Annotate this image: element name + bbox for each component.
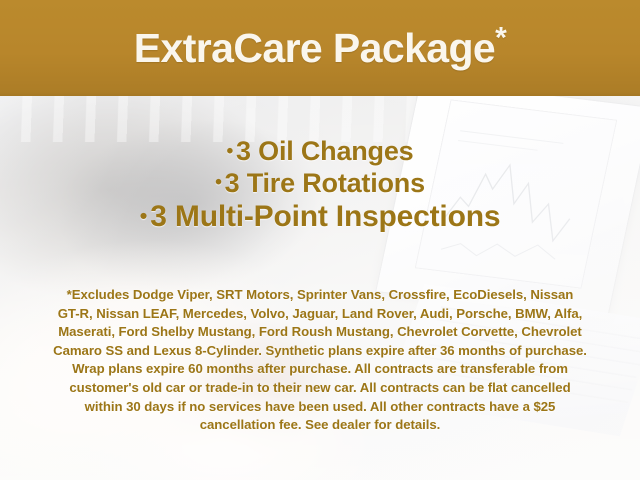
benefit-item-multi-point-inspections: •3 Multi-Point Inspections	[0, 199, 640, 234]
title-asterisk: *	[495, 21, 506, 54]
disclaimer-line: Maserati, Ford Shelby Mustang, Ford Rous…	[30, 323, 610, 342]
benefit-item-tire-rotations: •3 Tire Rotations	[0, 168, 640, 200]
page-title: ExtraCare Package*	[134, 28, 506, 69]
disclaimer-line: GT-R, Nissan LEAF, Mercedes, Volvo, Jagu…	[30, 305, 610, 324]
bullet-dot-icon: •	[140, 203, 147, 228]
benefits-list: •3 Oil Changes •3 Tire Rotations •3 Mult…	[0, 136, 640, 234]
benefit-label: 3 Tire Rotations	[225, 168, 425, 198]
bullet-dot-icon: •	[215, 171, 222, 193]
header-banner: ExtraCare Package*	[0, 0, 640, 96]
benefit-label: 3 Oil Changes	[236, 136, 413, 166]
disclaimer-line: within 30 days if no services have been …	[30, 398, 610, 417]
extracare-package-ad: ExtraCare Package* •3 Oil Changes •3 Tir…	[0, 0, 640, 480]
bullet-dot-icon: •	[227, 140, 234, 162]
disclaimer-line: cancellation fee. See dealer for details…	[30, 416, 610, 435]
benefit-item-oil-changes: •3 Oil Changes	[0, 136, 640, 168]
disclaimer-line: *Excludes Dodge Viper, SRT Motors, Sprin…	[30, 286, 610, 305]
disclaimer-line: Wrap plans expire 60 months after purcha…	[30, 360, 610, 379]
benefit-label: 3 Multi-Point Inspections	[150, 200, 500, 233]
banner-bottom-shade	[0, 92, 640, 96]
page-title-text: ExtraCare Package	[134, 25, 495, 71]
disclaimer-line: Camaro SS and Lexus 8-Cylinder. Syntheti…	[30, 342, 610, 361]
disclaimer-text: *Excludes Dodge Viper, SRT Motors, Sprin…	[30, 286, 610, 435]
disclaimer-line: customer's old car or trade-in to their …	[30, 379, 610, 398]
